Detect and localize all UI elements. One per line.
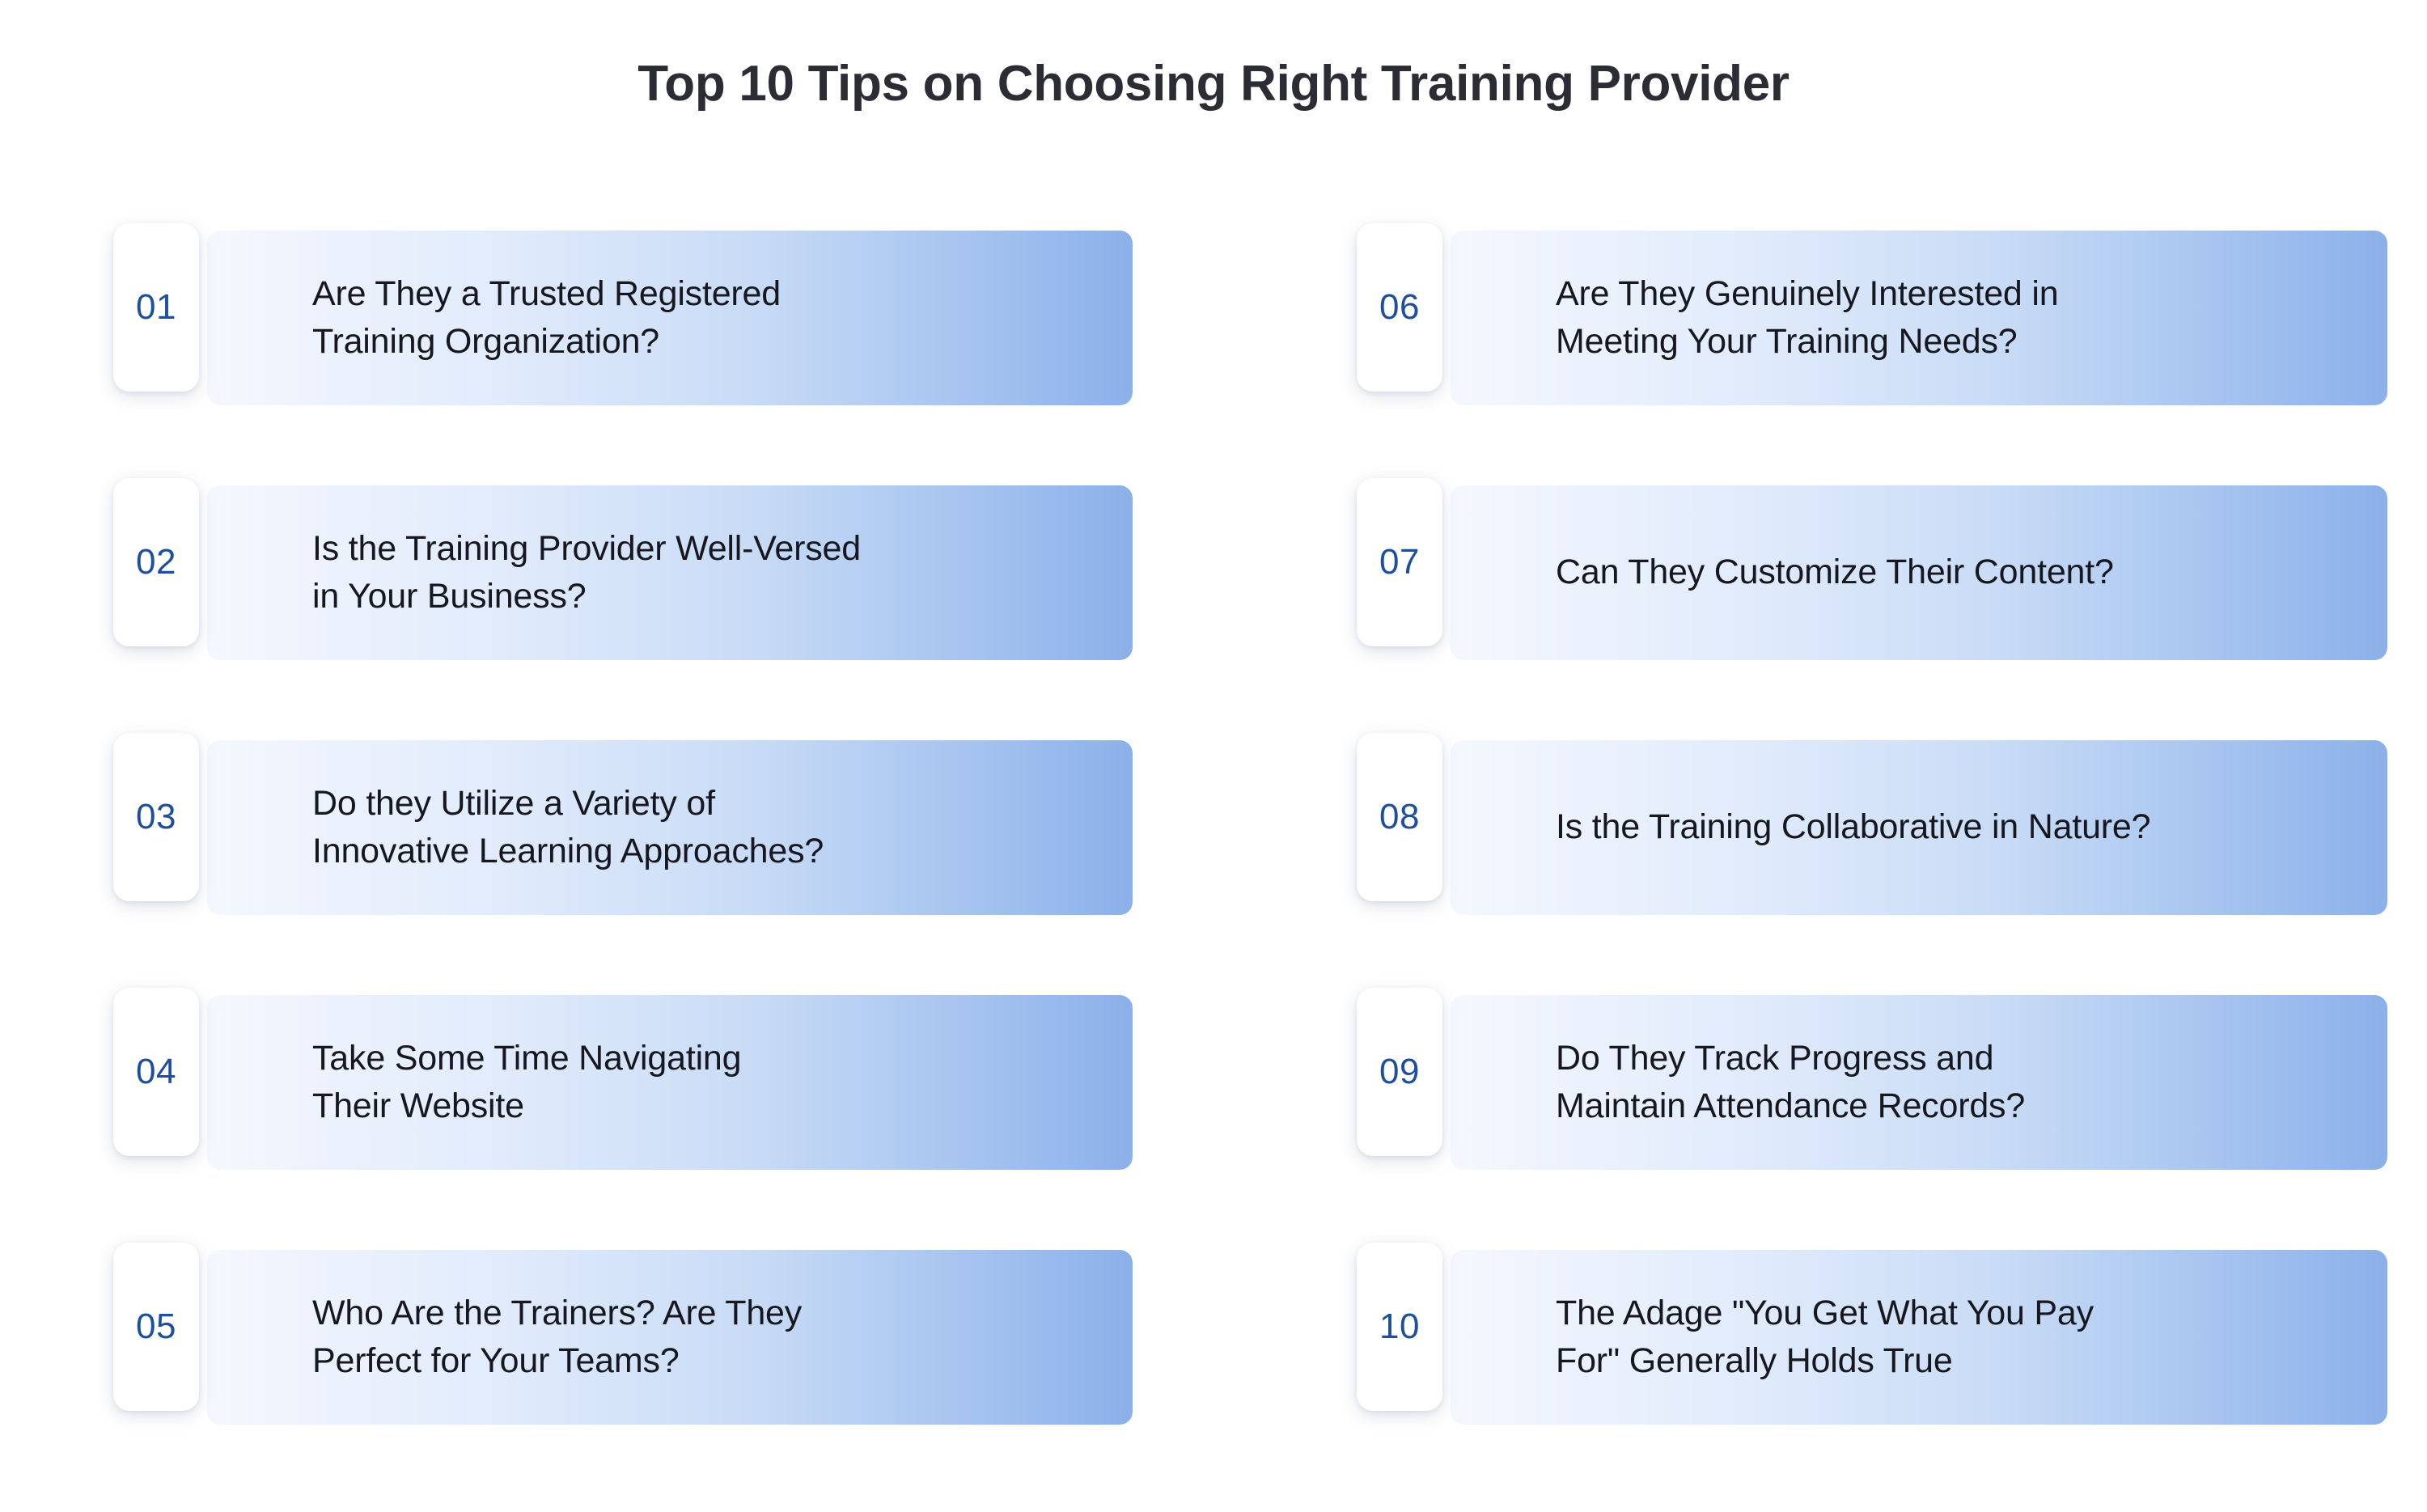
tip-number-label: 07 — [1379, 544, 1420, 580]
tip-text-line-1: Do they Utilize a Variety of — [312, 780, 1100, 828]
tip-number-badge: 04 — [113, 988, 199, 1156]
tip-row[interactable]: 01Are They a Trusted RegisteredTraining … — [113, 223, 1133, 398]
tip-number-badge: 01 — [113, 223, 199, 392]
tip-text: Are They a Trusted RegisteredTraining Or… — [312, 231, 1100, 405]
tips-column-left: 01Are They a Trusted RegisteredTraining … — [113, 223, 1133, 1437]
tip-text-line-1: Can They Customize Their Content? — [1556, 548, 2344, 596]
tip-number-label: 08 — [1379, 799, 1420, 835]
tip-text: Do They Track Progress andMaintain Atten… — [1556, 995, 2344, 1170]
tip-text-line-1: Are They a Trusted Registered — [312, 270, 1100, 318]
tip-number-label: 10 — [1379, 1309, 1420, 1345]
tip-text-line-2: Maintain Attendance Records? — [1556, 1082, 2344, 1130]
tip-text: Are They Genuinely Interested inMeeting … — [1556, 231, 2344, 405]
tip-number-label: 05 — [136, 1309, 176, 1345]
tip-text-line-1: Is the Training Collaborative in Nature? — [1556, 803, 2344, 851]
tip-number-badge: 10 — [1357, 1243, 1442, 1411]
tip-text: Do they Utilize a Variety ofInnovative L… — [312, 740, 1100, 915]
tip-row[interactable]: 05Who Are the Trainers? Are TheyPerfect … — [113, 1243, 1133, 1417]
tip-text: Can They Customize Their Content? — [1556, 485, 2344, 660]
tip-text-line-2: Perfect for Your Teams? — [312, 1337, 1100, 1385]
tip-row[interactable]: 07Can They Customize Their Content? — [1357, 478, 2376, 653]
tips-column-right: 06Are They Genuinely Interested inMeetin… — [1357, 223, 2376, 1437]
tip-text-line-1: Take Some Time Navigating — [312, 1035, 1100, 1082]
tip-number-label: 02 — [136, 544, 176, 580]
tip-text-line-2: Meeting Your Training Needs? — [1556, 318, 2344, 366]
tip-text-line-1: Who Are the Trainers? Are They — [312, 1290, 1100, 1337]
tips-grid: 01Are They a Trusted RegisteredTraining … — [0, 223, 2427, 1437]
infographic-page: Top 10 Tips on Choosing Right Training P… — [0, 0, 2427, 1512]
tip-row[interactable]: 02Is the Training Provider Well-Versedin… — [113, 478, 1133, 653]
tip-row[interactable]: 06Are They Genuinely Interested inMeetin… — [1357, 223, 2376, 398]
tip-text: Is the Training Provider Well-Versedin Y… — [312, 485, 1100, 660]
tip-row[interactable]: 08Is the Training Collaborative in Natur… — [1357, 733, 2376, 908]
tip-row[interactable]: 04Take Some Time NavigatingTheir Website — [113, 988, 1133, 1163]
tip-number-badge: 03 — [113, 733, 199, 901]
tip-number-label: 04 — [136, 1054, 176, 1090]
tip-text: The Adage "You Get What You PayFor" Gene… — [1556, 1250, 2344, 1425]
tip-number-badge: 06 — [1357, 223, 1442, 392]
tip-number-label: 09 — [1379, 1054, 1420, 1090]
tip-row[interactable]: 09Do They Track Progress andMaintain Att… — [1357, 988, 2376, 1163]
tip-text-line-2: in Your Business? — [312, 573, 1100, 620]
page-title: Top 10 Tips on Choosing Right Training P… — [0, 57, 2427, 112]
tip-number-badge: 09 — [1357, 988, 1442, 1156]
tip-text-line-1: Do They Track Progress and — [1556, 1035, 2344, 1082]
tip-number-badge: 08 — [1357, 733, 1442, 901]
tip-text-line-1: Are They Genuinely Interested in — [1556, 270, 2344, 318]
tip-text-line-1: The Adage "You Get What You Pay — [1556, 1290, 2344, 1337]
tip-number-badge: 05 — [113, 1243, 199, 1411]
tip-text-line-1: Is the Training Provider Well-Versed — [312, 525, 1100, 573]
tip-text-line-2: For" Generally Holds True — [1556, 1337, 2344, 1385]
tip-row[interactable]: 03Do they Utilize a Variety ofInnovative… — [113, 733, 1133, 908]
tip-number-badge: 07 — [1357, 478, 1442, 646]
tip-number-label: 01 — [136, 290, 176, 325]
tip-text-line-2: Innovative Learning Approaches? — [312, 828, 1100, 875]
tip-text: Take Some Time NavigatingTheir Website — [312, 995, 1100, 1170]
tip-number-badge: 02 — [113, 478, 199, 646]
tip-text: Is the Training Collaborative in Nature? — [1556, 740, 2344, 915]
tip-number-label: 06 — [1379, 290, 1420, 325]
tip-row[interactable]: 10The Adage "You Get What You PayFor" Ge… — [1357, 1243, 2376, 1417]
tip-text-line-2: Training Organization? — [312, 318, 1100, 366]
tip-text-line-2: Their Website — [312, 1082, 1100, 1130]
tip-text: Who Are the Trainers? Are TheyPerfect fo… — [312, 1250, 1100, 1425]
tip-number-label: 03 — [136, 799, 176, 835]
